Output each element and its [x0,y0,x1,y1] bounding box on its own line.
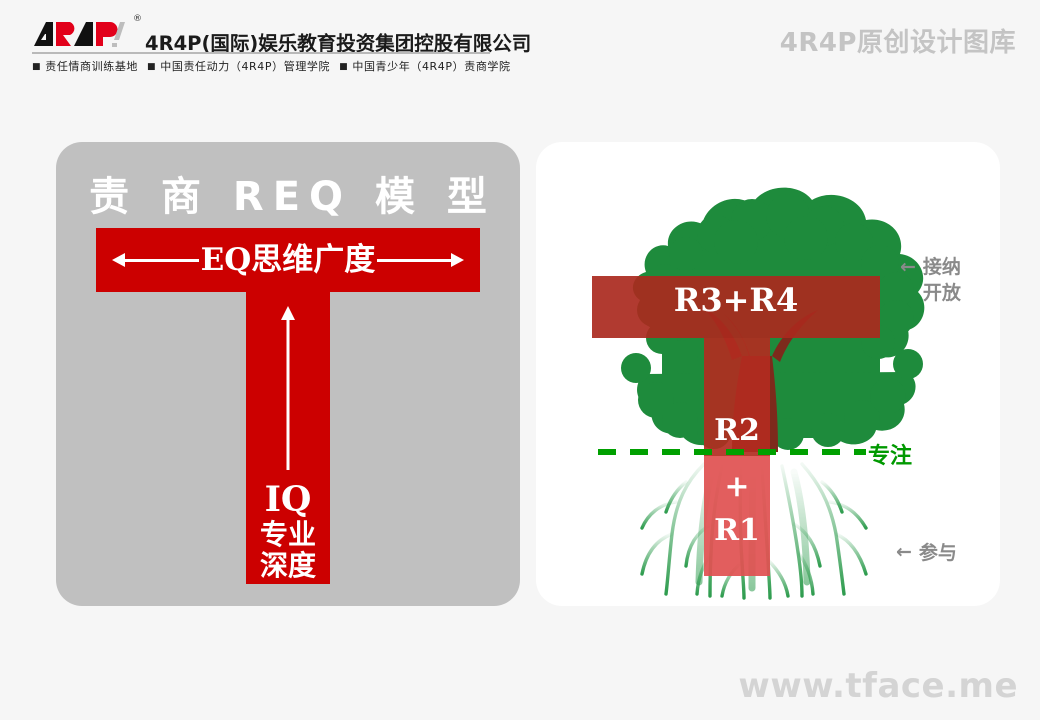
iq-vertical-bar: IQ 专业 深度 [246,292,330,584]
eq-bar-content: EQ思维广度 [96,228,480,292]
r2-label: R2 [704,416,770,446]
slide-canvas: ® 4R4P(国际)娱乐教育投资集团控股有限公司 ■ 责任情商训练基地■ 中国责… [0,0,1040,720]
arrow-left-icon: ← [900,255,916,281]
responsibility-tree-panel: R3+R4 R2 + R1 专注 [536,142,1000,606]
annotation-accept: ← 接纳 开放 [900,255,961,306]
brand-row: ® 4R4P(国际)娱乐教育投资集团控股有限公司 [32,12,492,54]
subitem-1-label: 中国责任动力（4R4P）管理学院 [160,60,330,73]
header: ® 4R4P(国际)娱乐教育投资集团控股有限公司 ■ 责任情商训练基地■ 中国责… [0,0,1040,92]
annotation-accept-text: 接纳 开放 [923,255,961,306]
header-subitems: ■ 责任情商训练基地■ 中国责任动力（4R4P）管理学院■ 中国青少年（4R4P… [32,58,502,74]
r1-label: R1 [704,516,770,546]
bullet-icon: ■ [32,62,41,72]
brand-block: ® 4R4P(国际)娱乐教育投资集团控股有限公司 [32,12,492,54]
plus-label: + [704,472,770,502]
arrow-left-icon [112,258,199,262]
arrow-right-icon [377,258,464,262]
eq-bar-label: EQ思维广度 [199,245,378,276]
4r4p-logo-icon [32,20,132,54]
annotation-accept-line1: 接纳 [923,256,961,278]
subitem-0-label: 责任情商训练基地 [45,60,138,73]
r34-bar-label: R3+R4 [596,284,876,316]
header-watermark: 4R4P原创设计图库 [780,22,1016,59]
arrow-up-icon [281,306,295,470]
annotation-participate-label: 参与 [919,538,957,565]
annotation-accept-line2: 开放 [923,281,961,307]
iq-label-line1: 专业 [246,519,330,550]
subitem-2: ■ 中国青少年（4R4P）责商学院 [339,60,511,73]
iq-bar-labels: IQ 专业 深度 [246,482,330,581]
focus-annotation: 专注 [868,438,912,470]
subitem-1: ■ 中国责任动力（4R4P）管理学院 [147,60,330,73]
iq-label: IQ [246,482,330,519]
registered-mark: ® [133,14,142,24]
footer-watermark: www.tface.me [738,666,1018,706]
eq-horizontal-bar: EQ思维广度 [96,228,480,292]
subitem-0: ■ 责任情商训练基地 [32,60,138,73]
company-name: 4R4P(国际)娱乐教育投资集团控股有限公司 [145,34,531,54]
req-model-title: 责 商 REQ 模 型 [56,164,520,222]
bullet-icon: ■ [147,62,156,72]
annotation-participate: ← 参与 [896,538,957,565]
header-divider [32,52,490,54]
req-model-panel: 责 商 REQ 模 型 EQ思维广度 IQ 专业 深度 [56,142,520,606]
arrow-left-icon: ← [896,541,912,563]
iq-label-line2: 深度 [246,550,330,581]
subitem-2-label: 中国青少年（4R4P）责商学院 [352,60,510,73]
bullet-icon: ■ [339,62,348,72]
